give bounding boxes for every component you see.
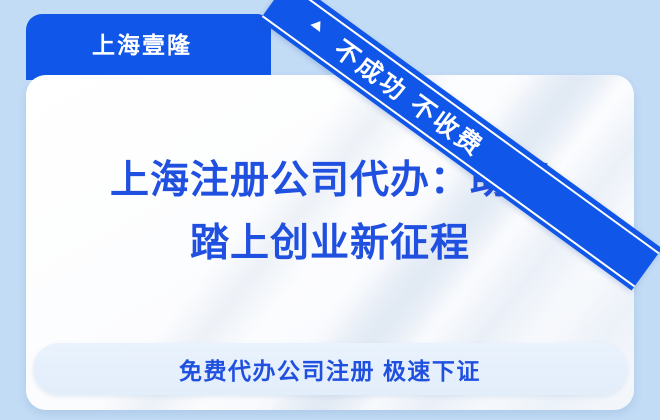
cta-banner[interactable]: 免费代办公司注册 极速下证 [33,343,627,395]
brand-tab-inner: 上海壹隆 [26,14,258,76]
brand-tab-label: 上海壹隆 [92,34,192,57]
poster-canvas: 上海壹隆 上海注册公司代办：助您 踏上创业新征程 免费代办公司注册 极速下证 不… [0,0,660,420]
triangle-up-icon [310,18,325,32]
cta-banner-label: 免费代办公司注册 极速下证 [179,352,481,386]
brand-tab: 上海壹隆 [26,14,271,80]
main-card: 上海注册公司代办：助您 踏上创业新征程 免费代办公司注册 极速下证 [26,75,634,410]
